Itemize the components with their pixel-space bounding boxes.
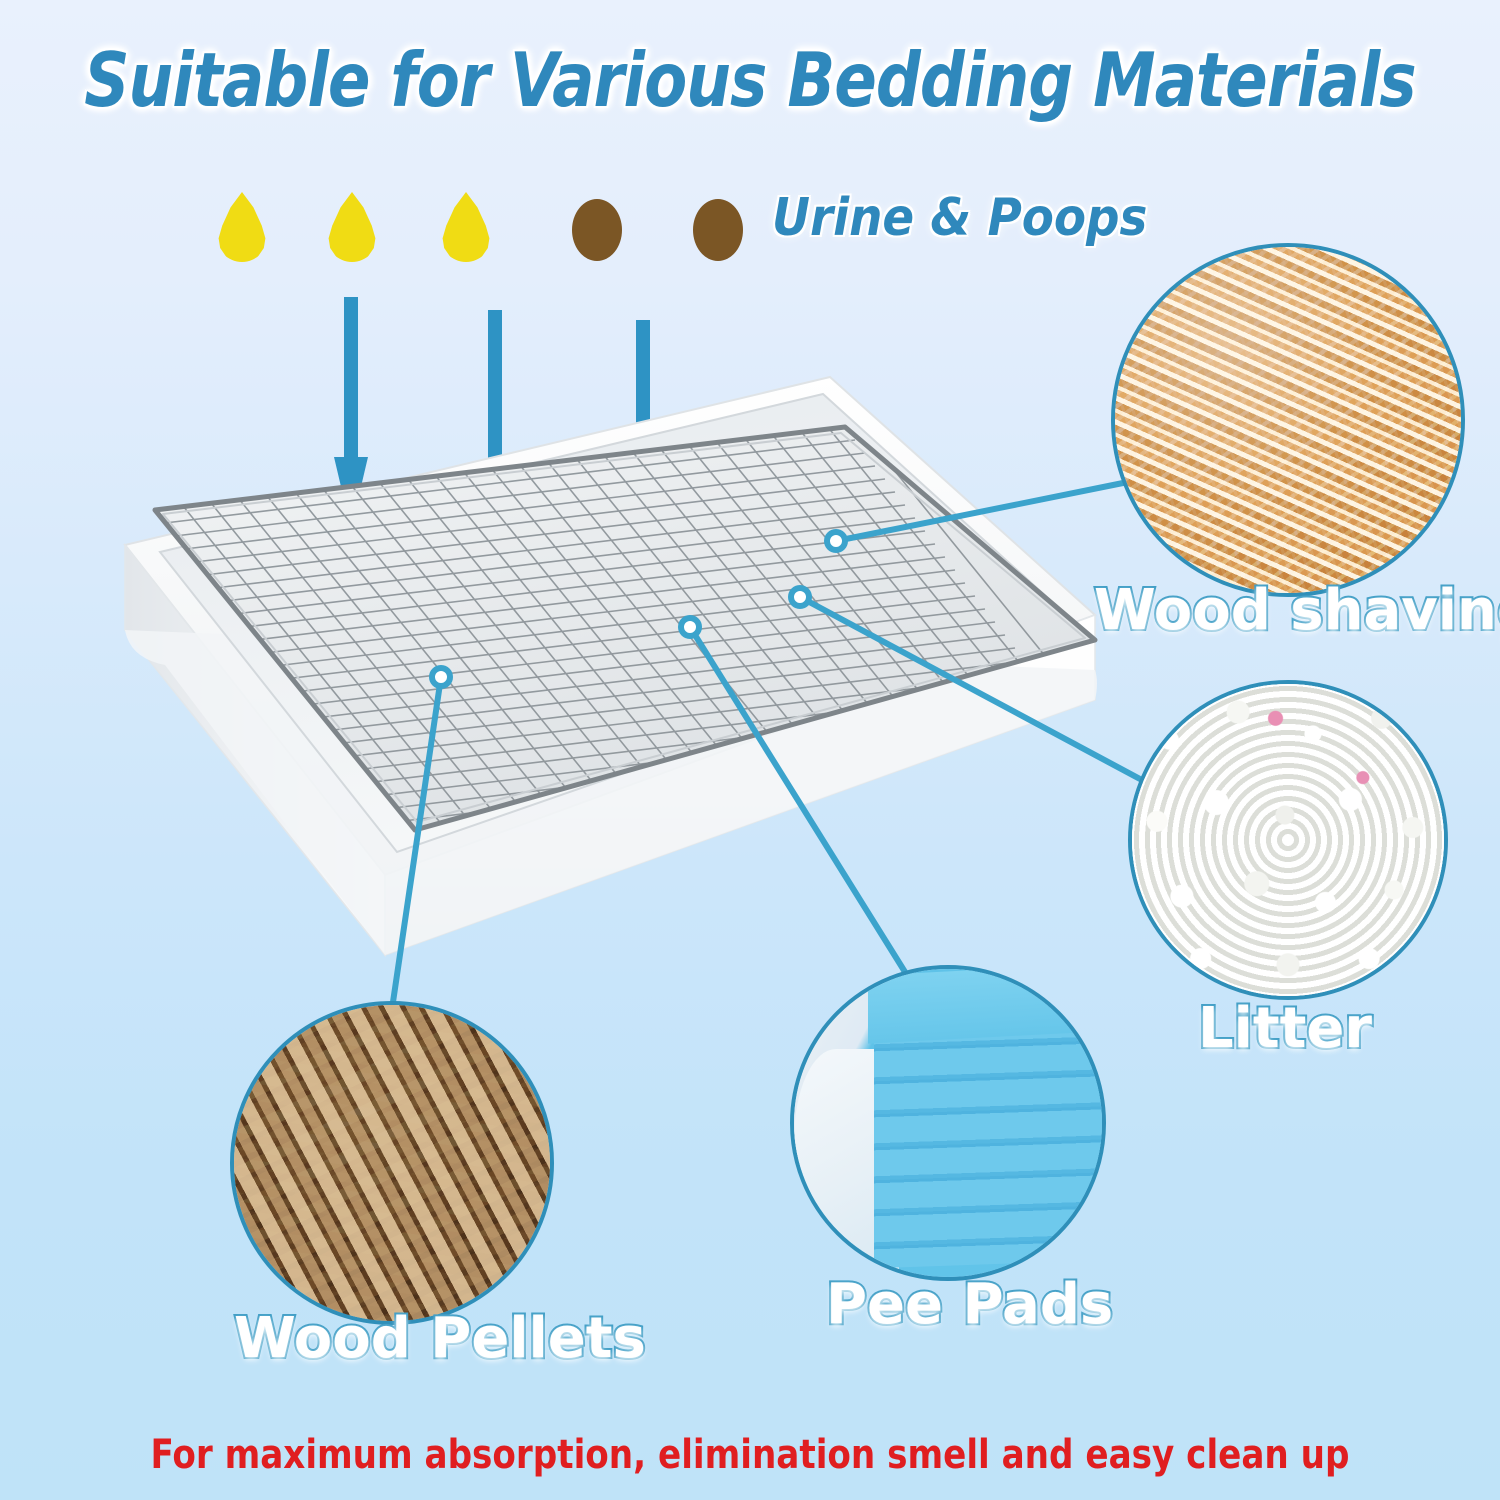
callout-label-litter: Litter (1198, 996, 1372, 1061)
bedding-materials-infographic: Suitable for Various Bedding Materials U… (0, 0, 1500, 1500)
urine-drop-icon-2 (326, 192, 378, 262)
urine-drop-icon-3 (440, 192, 492, 262)
wood-pellets-texture (234, 1005, 550, 1321)
urine-drop-icon-1 (216, 192, 268, 262)
pee-pads-photo (790, 965, 1106, 1281)
tray-illustration (85, 330, 1135, 970)
page-title: Suitable for Various Bedding Materials (53, 36, 1448, 124)
callout-label-wood-shaving: Wood shaving (1094, 578, 1500, 643)
callout-label-pee-pads: Pee Pads (826, 1272, 1113, 1337)
poop-dot-icon-2 (693, 199, 743, 261)
cat-litter-granules-photo (1128, 680, 1448, 1000)
wood-pellets-photo (230, 1001, 554, 1325)
wood-shavings-texture (1115, 247, 1461, 593)
footer-caption: For maximum absorption, elimination smel… (38, 1432, 1463, 1478)
cat-litter-texture (1132, 684, 1444, 996)
pee-pad-top-sheet (868, 965, 1106, 1043)
wood-shavings-photo (1111, 243, 1465, 597)
litter-tray-with-mesh-grate (85, 330, 1135, 970)
legend-label: Urine & Poops (772, 188, 1147, 248)
callout-label-wood-pellets: Wood Pellets (234, 1306, 646, 1371)
poop-dot-icon-1 (572, 199, 622, 261)
pee-pads-texture (794, 969, 1102, 1277)
